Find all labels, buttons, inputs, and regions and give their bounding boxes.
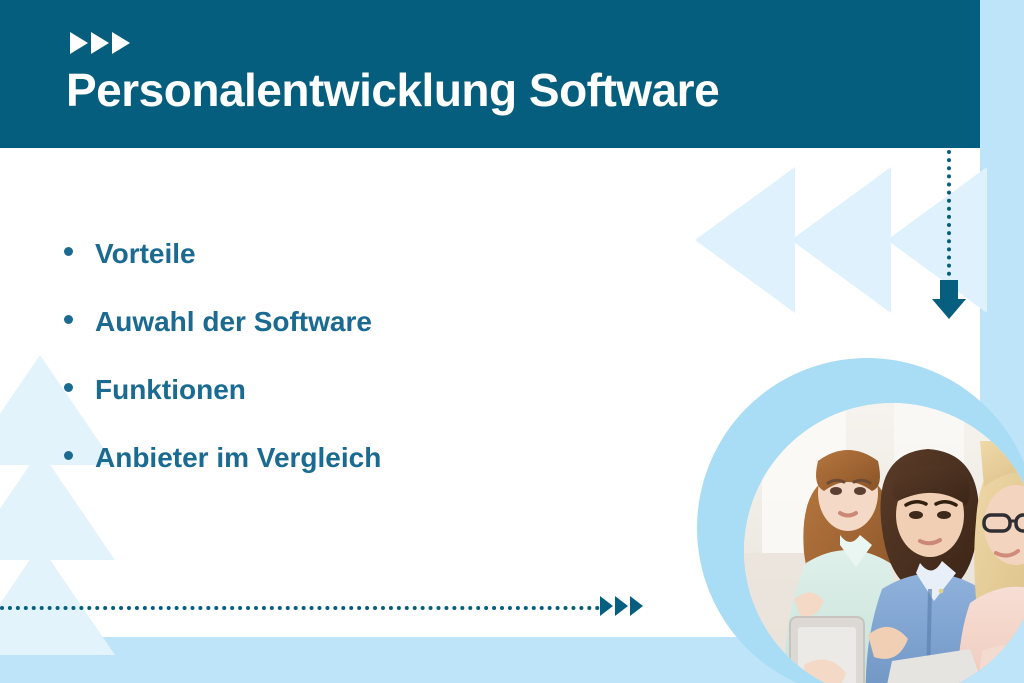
list-item[interactable]: Anbieter im Vergleich [64,442,381,474]
left-pointing-triangle-icon [791,167,891,313]
arrow-shaft [940,280,958,300]
page-title: Personalentwicklung Software [66,63,719,117]
right-arrow-icon [70,32,88,54]
dotted-line-vertical [947,150,951,284]
list-item[interactable]: Auwahl der Software [64,306,381,338]
left-pointing-triangle-icon [695,167,795,313]
arrow-head [932,299,966,319]
right-arrow-icon [615,596,628,616]
dotted-line-horizontal [0,606,600,610]
list-item[interactable]: Funktionen [64,374,381,406]
down-arrow-icon [932,280,966,318]
right-arrow-icon [112,32,130,54]
agenda-list: Vorteile Auwahl der Software Funktionen … [64,238,381,510]
right-arrow-icon [630,596,643,616]
slide-canvas: Personalentwicklung Software Vorteile Au… [0,0,1024,683]
list-item-label: Auwahl der Software [95,306,372,338]
bullet-dot-icon [64,247,73,256]
bullet-dot-icon [64,315,73,324]
list-item-label: Funktionen [95,374,246,406]
list-item[interactable]: Vorteile [64,238,381,270]
right-arrow-icon [91,32,109,54]
up-pointing-triangle-icon [0,545,115,655]
list-item-label: Anbieter im Vergleich [95,442,381,474]
bullet-dot-icon [64,451,73,460]
header-band: Personalentwicklung Software [0,0,980,148]
list-item-label: Vorteile [95,238,196,270]
bullet-dot-icon [64,383,73,392]
triple-right-arrow-icon [70,32,130,54]
triple-right-arrow-icon [600,596,643,616]
right-arrow-icon [600,596,613,616]
